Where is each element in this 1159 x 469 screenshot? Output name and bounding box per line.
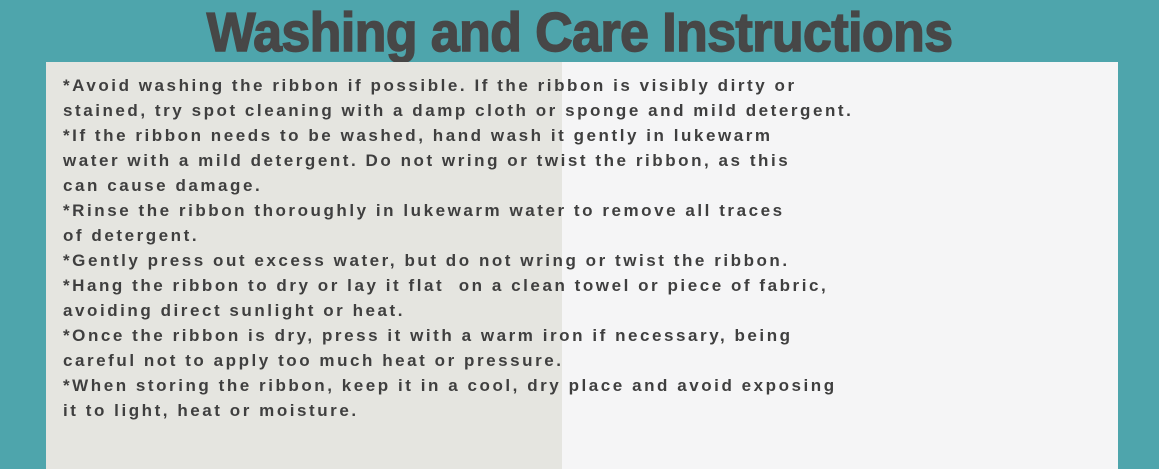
instruction-line: of detergent.: [63, 223, 1114, 248]
poster-root: Washing and Care Instructions *Avoid was…: [0, 0, 1159, 469]
instruction-line: avoiding direct sunlight or heat.: [63, 298, 1114, 323]
instructions-list: *Avoid washing the ribbon if possible. I…: [63, 73, 1114, 423]
instruction-line: *Hang the ribbon to dry or lay it flat o…: [63, 273, 1114, 298]
instruction-line: stained, try spot cleaning with a damp c…: [63, 98, 1114, 123]
instruction-line: can cause damage.: [63, 173, 1114, 198]
instruction-line: *Once the ribbon is dry, press it with a…: [63, 323, 1114, 348]
instruction-line: *If the ribbon needs to be washed, hand …: [63, 123, 1114, 148]
instruction-line: it to light, heat or moisture.: [63, 398, 1114, 423]
title-bar: Washing and Care Instructions: [0, 0, 1159, 62]
teal-frame-left: [0, 62, 46, 469]
instruction-line: *Gently press out excess water, but do n…: [63, 248, 1114, 273]
page-title: Washing and Care Instructions: [207, 4, 953, 60]
teal-frame-right: [1118, 62, 1159, 469]
instruction-line: water with a mild detergent. Do not wrin…: [63, 148, 1114, 173]
instruction-line: *Rinse the ribbon thoroughly in lukewarm…: [63, 198, 1114, 223]
instruction-line: careful not to apply too much heat or pr…: [63, 348, 1114, 373]
instruction-line: *When storing the ribbon, keep it in a c…: [63, 373, 1114, 398]
instruction-line: *Avoid washing the ribbon if possible. I…: [63, 73, 1114, 98]
instructions-panel: *Avoid washing the ribbon if possible. I…: [46, 62, 1118, 469]
